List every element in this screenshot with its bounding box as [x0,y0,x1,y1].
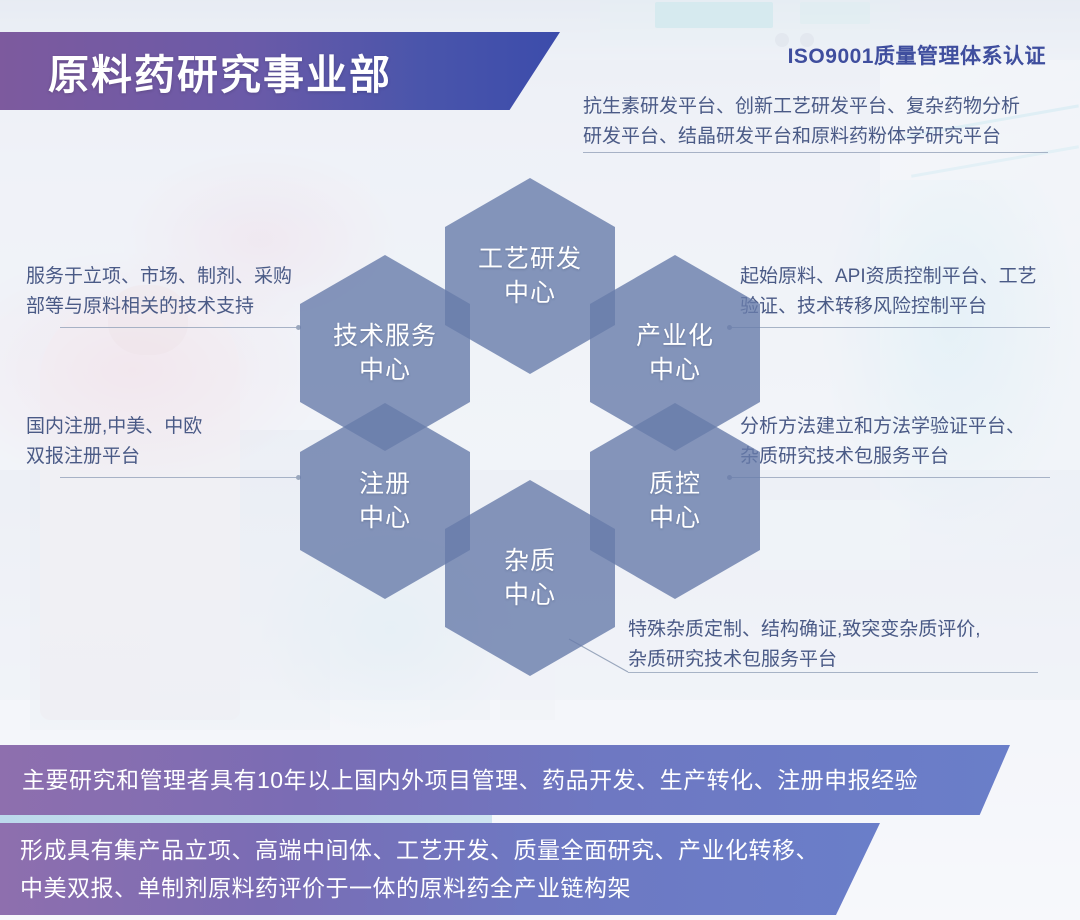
value-chain-banner: 形成具有集产品立项、高端中间体、工艺开发、质量全面研究、产业化转移、 中美双报、… [0,823,880,915]
hexagon-label: 技术服务 中心 [333,319,437,387]
infographic-canvas: 原料药研究事业部 ISO9001质量管理体系认证 抗生素研发平台、创新工艺研发平… [0,0,1080,920]
hexagon-label: 工艺研发 中心 [478,242,582,310]
hexagon-impurity-center[interactable]: 杂质 中心 [445,480,615,676]
experience-banner-text: 主要研究和管理者具有10年以上国内外项目管理、药品开发、生产转化、注册申报经验 [22,761,918,799]
hexagon-registration-center[interactable]: 注册 中心 [300,403,470,599]
experience-banner: 主要研究和管理者具有10年以上国内外项目管理、药品开发、生产转化、注册申报经验 [0,745,1010,815]
hexagon-label: 产业化 中心 [636,319,714,387]
hexagon-label: 注册 中心 [359,467,411,535]
hexagon-quality-control-center[interactable]: 质控 中心 [590,403,760,599]
hexagon-process-rd-center[interactable]: 工艺研发 中心 [445,178,615,374]
value-chain-banner-text: 形成具有集产品立项、高端中间体、工艺开发、质量全面研究、产业化转移、 中美双报、… [20,831,819,907]
hexagon-label: 杂质 中心 [504,544,556,612]
hexagon-label: 质控 中心 [649,467,701,535]
